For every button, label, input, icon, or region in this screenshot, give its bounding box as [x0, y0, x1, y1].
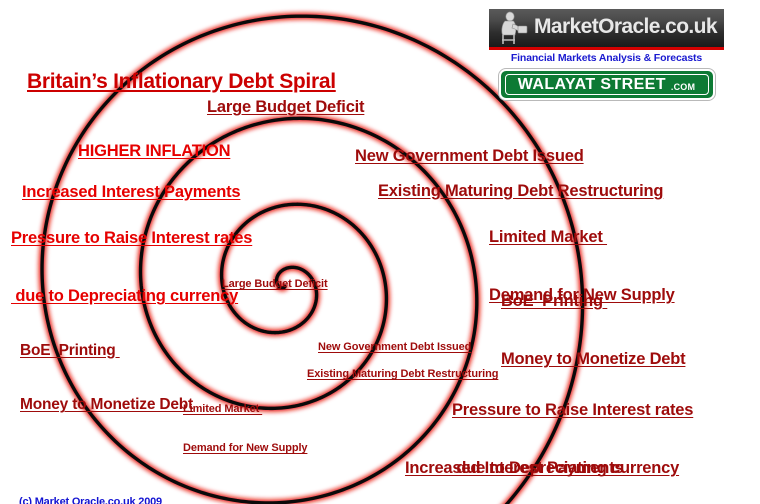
walayat-street-sign[interactable]: WALAYAT STREET .COM [499, 69, 715, 100]
diagram-canvas: Britain’s Inflationary Debt Spiral Marke… [0, 0, 760, 504]
label-limited-market-inner: Limited Market Demand for New Supply [183, 377, 307, 481]
seated-oracle-icon [493, 10, 533, 46]
street-sign-suffix: .COM [671, 78, 695, 92]
label-large-budget-deficit-inner: Large Budget Deficit [222, 252, 328, 317]
street-sign-inner: WALAYAT STREET .COM [505, 74, 709, 95]
street-sign-text: WALAYAT STREET [518, 76, 666, 94]
label-higher-inflation-bottom: HIGHER INFLATION [404, 465, 624, 504]
label-large-budget-deficit-outer: Large Budget Deficit [207, 59, 364, 156]
label-boe-printing-left: BoE Printing Money to Monetize Debt [20, 305, 193, 451]
label-existing-maturing-debt-inner: Existing Maturing Debt Restructuring [307, 342, 498, 407]
logo-brand-text: MarketOracle.co.uk [534, 15, 717, 39]
logo-tagline: Financial Markets Analysis & Forecasts [489, 50, 724, 64]
market-oracle-logo[interactable]: MarketOracle.co.uk Financial Markets Ana… [489, 9, 724, 97]
logo-banner: MarketOracle.co.uk [489, 9, 724, 47]
copyright-notice: (c) Market Oracle.co.uk 2009 [19, 470, 162, 504]
